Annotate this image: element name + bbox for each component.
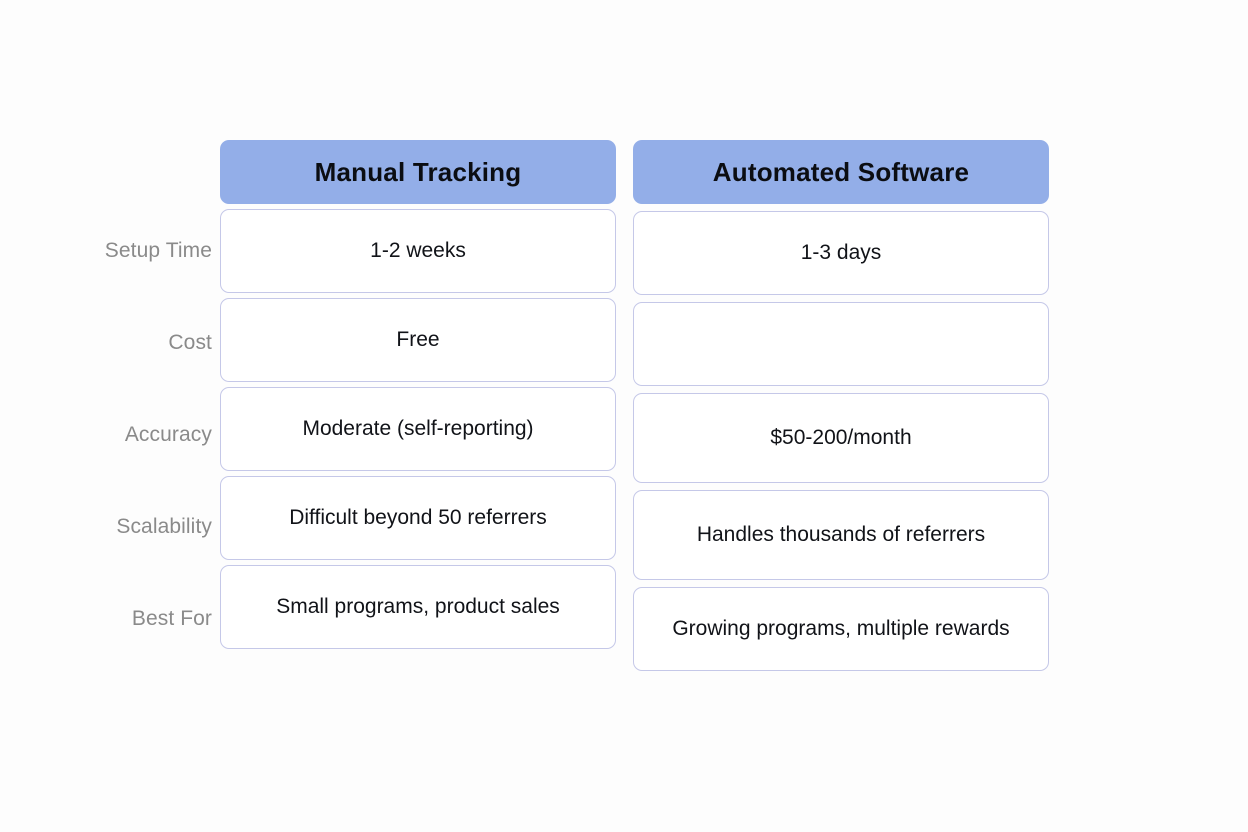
comparison-table-canvas: Setup Time Cost Accuracy Scalability Bes… bbox=[0, 0, 1248, 832]
column-automated-software: Automated Software 1-3 days $50-200/mont… bbox=[633, 140, 1049, 671]
cell-manual-accuracy: Moderate (self-reporting) bbox=[220, 387, 616, 471]
row-label-accuracy: Accuracy bbox=[40, 389, 212, 481]
cell-manual-cost: Free bbox=[220, 298, 616, 382]
cell-manual-best-for: Small programs, product sales bbox=[220, 565, 616, 649]
cell-automated-cost bbox=[633, 302, 1049, 386]
cell-manual-scalability: Difficult beyond 50 referrers bbox=[220, 476, 616, 560]
row-label-setup-time: Setup Time bbox=[40, 205, 212, 297]
row-label-scalability: Scalability bbox=[40, 481, 212, 573]
column-header-automated-software: Automated Software bbox=[633, 140, 1049, 204]
row-label-gutter: Setup Time Cost Accuracy Scalability Bes… bbox=[40, 205, 212, 665]
cell-automated-best-for: Growing programs, multiple rewards bbox=[633, 587, 1049, 671]
row-label-cost: Cost bbox=[40, 297, 212, 389]
column-manual-tracking: Manual Tracking 1-2 weeks Free Moderate … bbox=[220, 140, 616, 649]
cell-automated-setup-time: 1-3 days bbox=[633, 211, 1049, 295]
column-header-manual-tracking: Manual Tracking bbox=[220, 140, 616, 204]
cell-automated-scalability: Handles thousands of referrers bbox=[633, 490, 1049, 580]
cell-automated-accuracy: $50-200/month bbox=[633, 393, 1049, 483]
cell-manual-setup-time: 1-2 weeks bbox=[220, 209, 616, 293]
row-label-best-for: Best For bbox=[40, 573, 212, 665]
